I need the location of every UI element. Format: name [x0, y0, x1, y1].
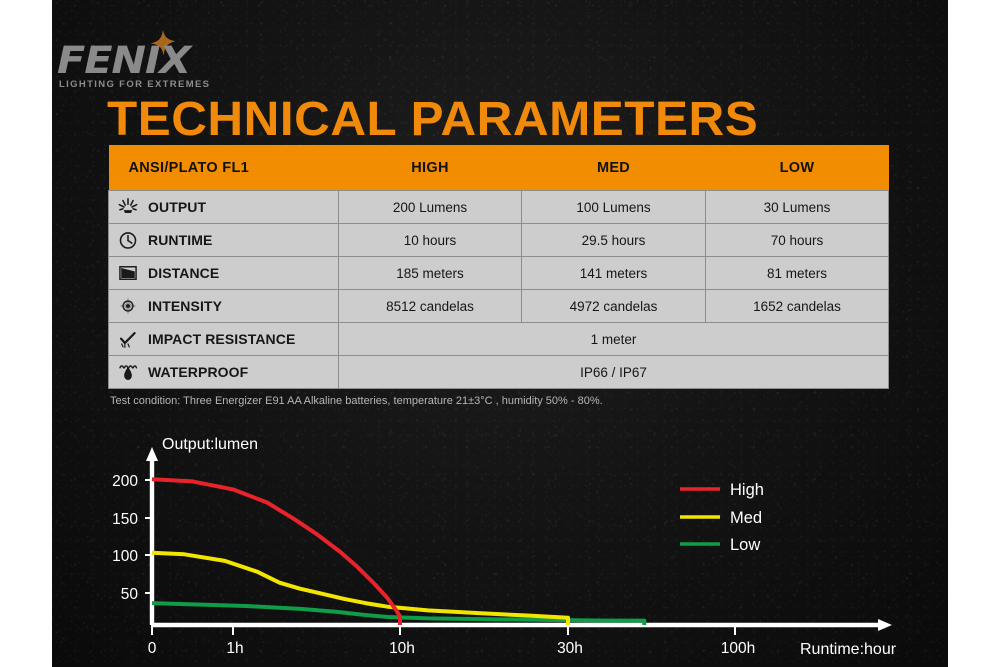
x-tick-label: 30h: [557, 640, 583, 657]
cell-output-med: 100 Lumens: [522, 191, 706, 224]
row-label-text: OUTPUT: [148, 199, 206, 215]
legend-label-low: Low: [730, 536, 760, 554]
chart-series-group: [152, 479, 644, 625]
row-label-impact-resistance: IMPACT RESISTANCE: [109, 323, 339, 356]
col-header-standard: ANSI/PLATO FL1: [109, 145, 339, 191]
chart-axes: [146, 447, 892, 631]
legend-label-med: Med: [730, 509, 762, 527]
cell-runtime-med: 29.5 hours: [522, 224, 706, 257]
row-label-intensity: INTENSITY: [109, 290, 339, 323]
cell-impact-resistance-value: 1 meter: [339, 323, 889, 356]
cell-output-low: 30 Lumens: [706, 191, 889, 224]
legend-label-high: High: [730, 481, 764, 499]
x-tick-label: 1h: [226, 640, 243, 657]
technical-parameters-page: FENIX LIGHTING FOR EXTREMES TECHNICAL PA…: [0, 0, 1000, 667]
waterdrop-icon: [117, 361, 139, 383]
cell-intensity-low: 1652 candelas: [706, 290, 889, 323]
page-title: TECHNICAL PARAMETERS: [107, 92, 758, 147]
cell-runtime-low: 70 hours: [706, 224, 889, 257]
chart-legend: High Med Low: [680, 481, 764, 554]
table-row: INTENSITY 8512 candelas 4972 candelas 16…: [109, 290, 889, 323]
row-label-output: OUTPUT: [109, 191, 339, 224]
col-header-med: MED: [522, 145, 706, 191]
row-label-text: DISTANCE: [148, 265, 219, 281]
table-row: WATERPROOF IP66 / IP67: [109, 356, 889, 389]
beam-distance-icon: [117, 262, 139, 284]
chart-y-axis-label: Output:lumen: [162, 436, 258, 453]
chart-x-axis-label: Runtime:hour: [800, 641, 897, 658]
runtime-output-chart: 200 150 100 50 0 1h 10h 30h 100h O: [60, 425, 940, 660]
light-burst-icon: [117, 196, 139, 218]
col-header-high: HIGH: [339, 145, 522, 191]
x-tick-label: 10h: [389, 640, 415, 657]
y-tick-label: 150: [112, 511, 138, 528]
cell-intensity-med: 4972 candelas: [522, 290, 706, 323]
fenix-logo: FENIX LIGHTING FOR EXTREMES: [57, 30, 227, 88]
cell-output-high: 200 Lumens: [339, 191, 522, 224]
row-label-runtime: RUNTIME: [109, 224, 339, 257]
specs-table: ANSI/PLATO FL1 HIGH MED LOW: [108, 145, 889, 389]
row-label-distance: DISTANCE: [109, 257, 339, 290]
clock-icon: [117, 229, 139, 251]
cell-runtime-high: 10 hours: [339, 224, 522, 257]
table-row: OUTPUT 200 Lumens 100 Lumens 30 Lumens: [109, 191, 889, 224]
x-tick-label: 100h: [721, 640, 755, 657]
row-label-text: WATERPROOF: [148, 364, 248, 380]
col-header-low: LOW: [706, 145, 889, 191]
fenix-wordmark: FENIX: [57, 42, 190, 79]
impact-icon: [117, 328, 139, 350]
table-row: DISTANCE 185 meters 141 meters 81 meters: [109, 257, 889, 290]
crosshair-icon: [117, 295, 139, 317]
cell-intensity-high: 8512 candelas: [339, 290, 522, 323]
cell-waterproof-value: IP66 / IP67: [339, 356, 889, 389]
cell-distance-med: 141 meters: [522, 257, 706, 290]
row-label-text: RUNTIME: [148, 232, 212, 248]
chart-svg: 200 150 100 50 0 1h 10h 30h 100h O: [60, 425, 940, 660]
table-row: IMPACT RESISTANCE 1 meter: [109, 323, 889, 356]
cell-distance-low: 81 meters: [706, 257, 889, 290]
test-condition-note: Test condition: Three Energizer E91 AA A…: [110, 395, 603, 407]
table-row: RUNTIME 10 hours 29.5 hours 70 hours: [109, 224, 889, 257]
fenix-tagline: LIGHTING FOR EXTREMES: [59, 79, 210, 90]
row-label-text: INTENSITY: [148, 298, 222, 314]
x-tick-label: 0: [148, 640, 157, 657]
row-label-waterproof: WATERPROOF: [109, 356, 339, 389]
specs-table-wrapper: ANSI/PLATO FL1 HIGH MED LOW: [108, 145, 888, 389]
y-tick-label: 100: [112, 548, 138, 565]
chart-x-tick-labels: 0 1h 10h 30h 100h: [148, 640, 756, 657]
y-tick-label: 50: [121, 586, 139, 603]
y-tick-label: 200: [112, 473, 138, 490]
cell-distance-high: 185 meters: [339, 257, 522, 290]
table-header-row: ANSI/PLATO FL1 HIGH MED LOW: [109, 145, 889, 191]
row-label-text: IMPACT RESISTANCE: [148, 331, 295, 347]
chart-y-tick-labels: 200 150 100 50: [112, 473, 138, 603]
